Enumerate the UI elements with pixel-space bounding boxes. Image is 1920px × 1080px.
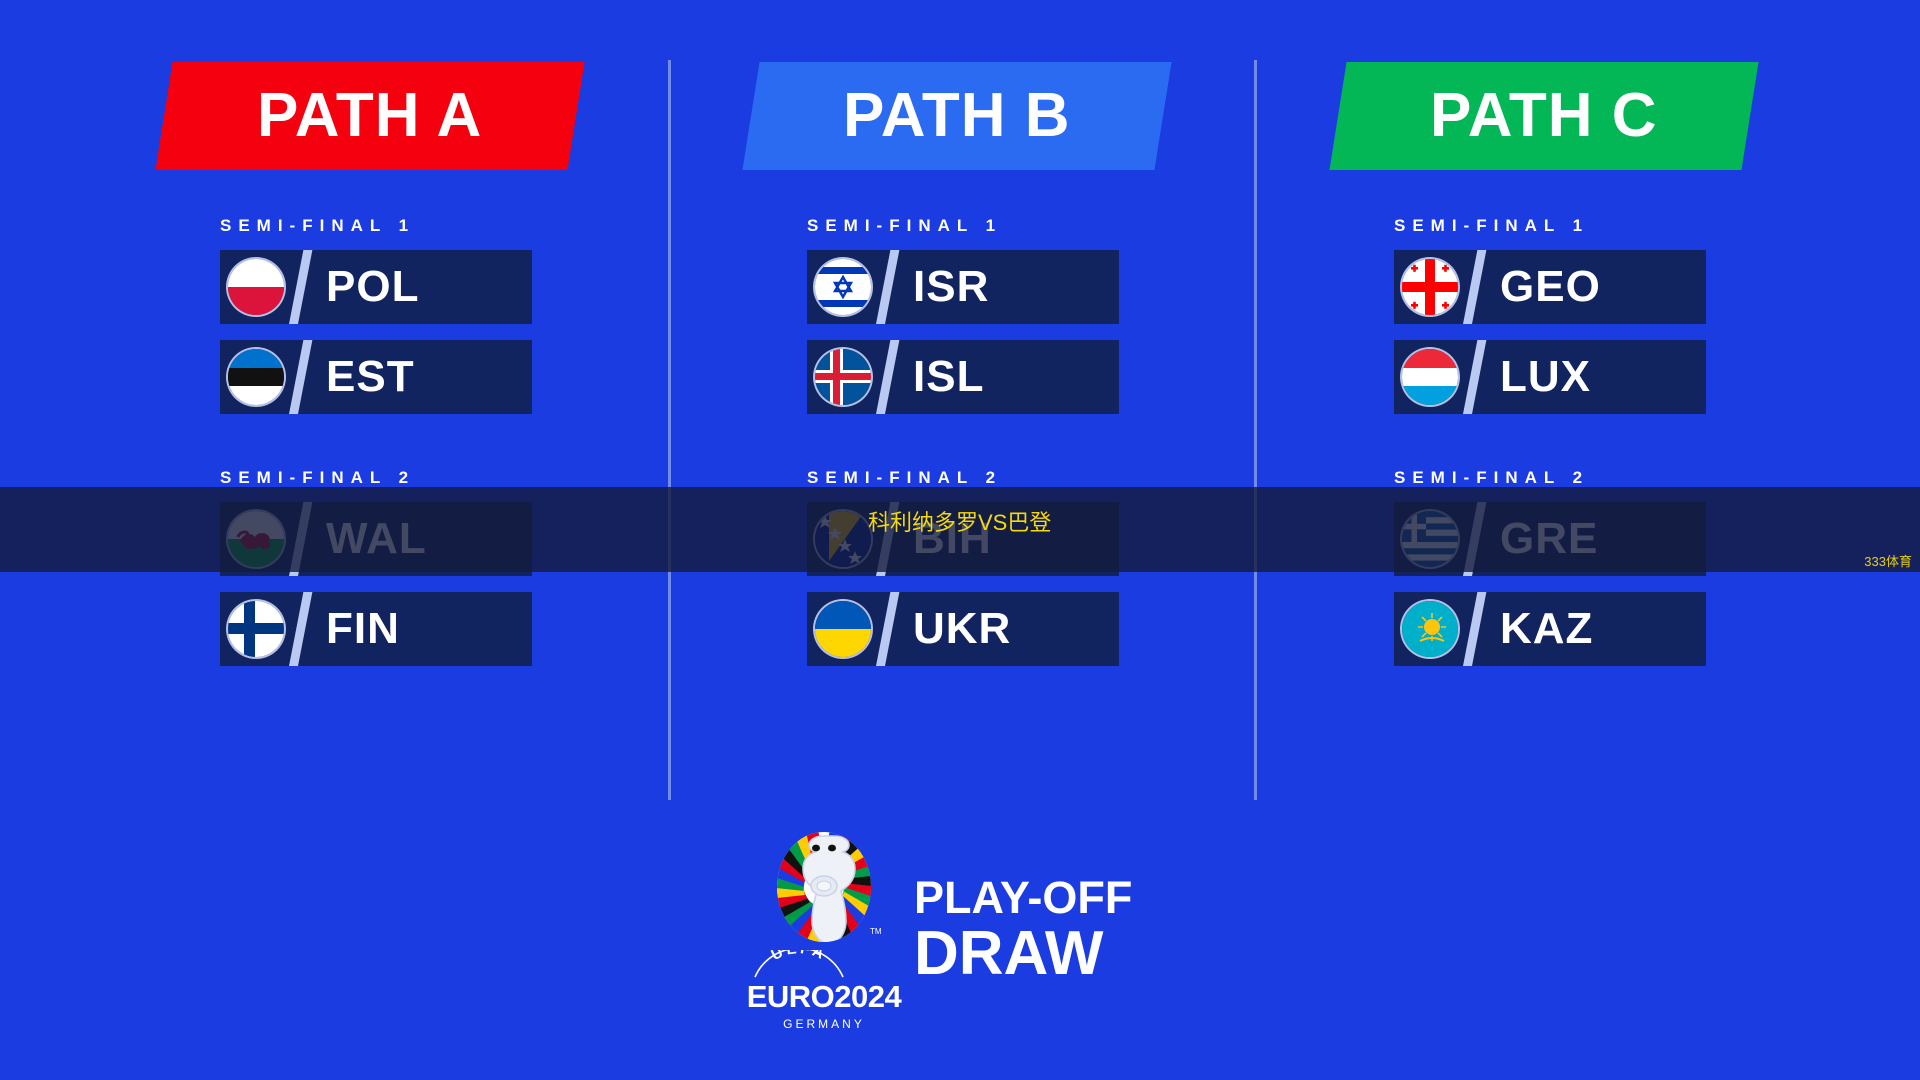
uefa-label: UEFA (768, 950, 829, 964)
luxembourg-flag-icon (1394, 340, 1466, 414)
team-card[interactable]: LUX (1394, 340, 1706, 414)
path-banner-a-label: PATH A (257, 85, 482, 147)
finland-flag-icon (220, 592, 292, 666)
semifinal-label-b-1: SEMI-FINAL 1 (807, 216, 1215, 236)
svg-text:TM: TM (870, 927, 882, 936)
svg-text:UEFA: UEFA (768, 950, 829, 964)
team-card[interactable]: GEO (1394, 250, 1706, 324)
team-code: GEO (1500, 265, 1601, 309)
kazakhstan-flag-icon (1394, 592, 1466, 666)
team-card[interactable]: ISL (807, 340, 1119, 414)
overlay-watermark: 333体育 (1864, 555, 1912, 568)
team-code: KAZ (1500, 607, 1593, 651)
uefa-euro-2024-trophy-icon: TM (764, 830, 884, 948)
semifinal-a-1-cards: POL EST (220, 250, 628, 414)
ukraine-flag-icon (807, 592, 879, 666)
path-banner-b-label: PATH B (843, 85, 1071, 147)
team-card[interactable]: UKR (807, 592, 1119, 666)
team-code: POL (326, 265, 419, 309)
path-banner-b: PATH B (742, 62, 1171, 170)
path-column-c: PATH C SEMI-FINAL 1 (1332, 62, 1802, 682)
poland-flag-icon (220, 250, 292, 324)
georgia-flag-icon (1394, 250, 1466, 324)
broadcast-graphic: PATH A SEMI-FINAL 1 POL (0, 0, 1920, 1080)
team-code: LUX (1500, 355, 1591, 399)
host-label: GERMANY (747, 1018, 902, 1030)
semifinal-label-b-2: SEMI-FINAL 2 (807, 468, 1215, 488)
team-card[interactable]: POL (220, 250, 532, 324)
uefa-arc-text-icon: UEFA (747, 950, 851, 980)
team-card[interactable]: FIN (220, 592, 532, 666)
path-column-b: PATH B SEMI-FINAL 1 (745, 62, 1215, 682)
team-code: ISR (913, 265, 989, 309)
semifinal-label-a-1: SEMI-FINAL 1 (220, 216, 628, 236)
overlay-caption: 科利纳多罗VS巴登 (868, 512, 1051, 534)
playoff-draw-title: PLAY-OFF DRAW (914, 876, 1132, 985)
semifinal-label-c-2: SEMI-FINAL 2 (1394, 468, 1802, 488)
estonia-flag-icon (220, 340, 292, 414)
israel-flag-icon (807, 250, 879, 324)
path-banner-a: PATH A (155, 62, 584, 170)
uefa-euro-2024-logo: TM UEFA EURO2024 GERMANY (760, 830, 888, 1030)
semifinal-label-a-2: SEMI-FINAL 2 (220, 468, 628, 488)
euro-label: EURO2024 (747, 981, 902, 1012)
team-code: ISL (913, 355, 984, 399)
iceland-flag-icon (807, 340, 879, 414)
title-line-1: PLAY-OFF (914, 876, 1132, 920)
semifinal-label-c-1: SEMI-FINAL 1 (1394, 216, 1802, 236)
team-card[interactable]: EST (220, 340, 532, 414)
semifinal-b-1-cards: ISR ISL (807, 250, 1215, 414)
path-banner-c: PATH C (1329, 62, 1758, 170)
team-code: UKR (913, 607, 1011, 651)
team-code: FIN (326, 607, 400, 651)
title-line-2: DRAW (914, 924, 1132, 985)
path-column-a: PATH A SEMI-FINAL 1 POL (158, 62, 628, 682)
team-card[interactable]: KAZ (1394, 592, 1706, 666)
footer: TM UEFA EURO2024 GERMANY PLAY-OFF (0, 820, 1920, 1080)
path-banner-c-label: PATH C (1430, 85, 1658, 147)
team-code: EST (326, 355, 415, 399)
team-card[interactable]: ISR (807, 250, 1119, 324)
semifinal-c-1-cards: GEO LUX (1394, 250, 1802, 414)
paths-container: PATH A SEMI-FINAL 1 POL (0, 0, 1920, 820)
